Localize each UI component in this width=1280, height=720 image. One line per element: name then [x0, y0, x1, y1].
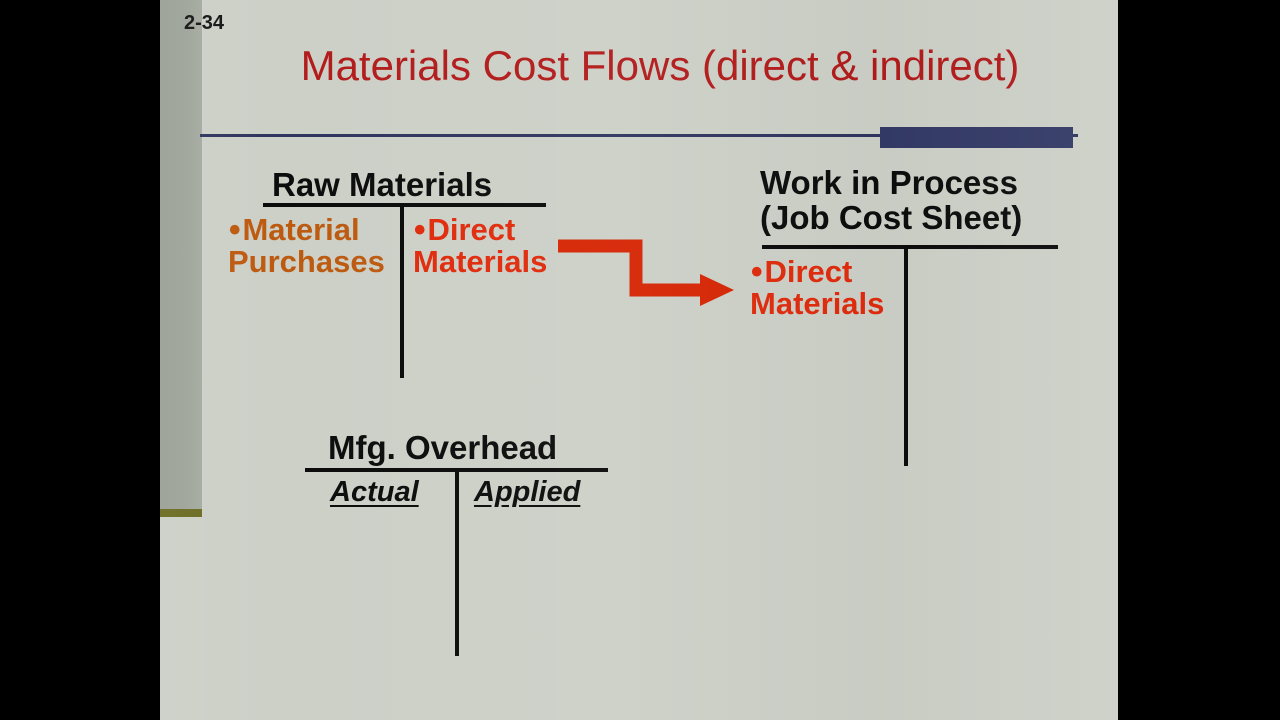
arrow-path: [558, 246, 706, 290]
raw-materials-credit-entry: ●Direct Materials: [413, 214, 547, 277]
header-accent-block: [880, 127, 1073, 148]
presentation-slide: 2-34 Materials Cost Flows (direct & indi…: [160, 0, 1118, 720]
raw-materials-center-stem: [400, 207, 404, 378]
screen: 2-34 Materials Cost Flows (direct & indi…: [0, 0, 1280, 720]
left-band-accent-bar: [160, 509, 202, 517]
work-in-process-debit-line1: ●Direct: [750, 256, 884, 288]
work-in-process-top-rule: [762, 245, 1058, 249]
work-in-process-title: Work in Process (Job Cost Sheet): [760, 166, 1022, 235]
mfg-overhead-title: Mfg. Overhead: [328, 431, 557, 466]
raw-materials-top-rule: [263, 203, 546, 207]
raw-materials-credit-text1: Direct: [427, 212, 515, 247]
direct-materials-flow-arrow: [558, 238, 738, 308]
work-in-process-title-line1: Work in Process: [760, 166, 1022, 201]
bullet-icon: ●: [750, 258, 763, 283]
work-in-process-center-stem: [904, 248, 908, 466]
left-decorative-band: [160, 0, 202, 516]
arrow-head: [700, 274, 734, 306]
bullet-icon: ●: [413, 216, 426, 241]
raw-materials-debit-text1: Material: [242, 212, 359, 247]
raw-materials-debit-line2: Purchases: [228, 246, 385, 278]
mfg-overhead-credit-label: Applied: [474, 478, 580, 508]
raw-materials-debit-entry: ●Material Purchases: [228, 214, 385, 277]
raw-materials-credit-line1: ●Direct: [413, 214, 547, 246]
slide-number: 2-34: [184, 12, 224, 35]
bullet-icon: ●: [228, 216, 241, 241]
raw-materials-credit-line2: Materials: [413, 246, 547, 278]
raw-materials-debit-line1: ●Material: [228, 214, 385, 246]
mfg-overhead-debit-label: Actual: [330, 478, 419, 508]
work-in-process-title-line2: (Job Cost Sheet): [760, 201, 1022, 236]
page-title: Materials Cost Flows (direct & indirect): [202, 42, 1118, 90]
work-in-process-debit-entry: ●Direct Materials: [750, 256, 884, 319]
arrow-svg: [558, 238, 738, 308]
mfg-overhead-center-stem: [455, 472, 459, 656]
work-in-process-debit-text1: Direct: [764, 254, 852, 289]
raw-materials-title: Raw Materials: [272, 168, 492, 203]
work-in-process-debit-line2: Materials: [750, 288, 884, 320]
